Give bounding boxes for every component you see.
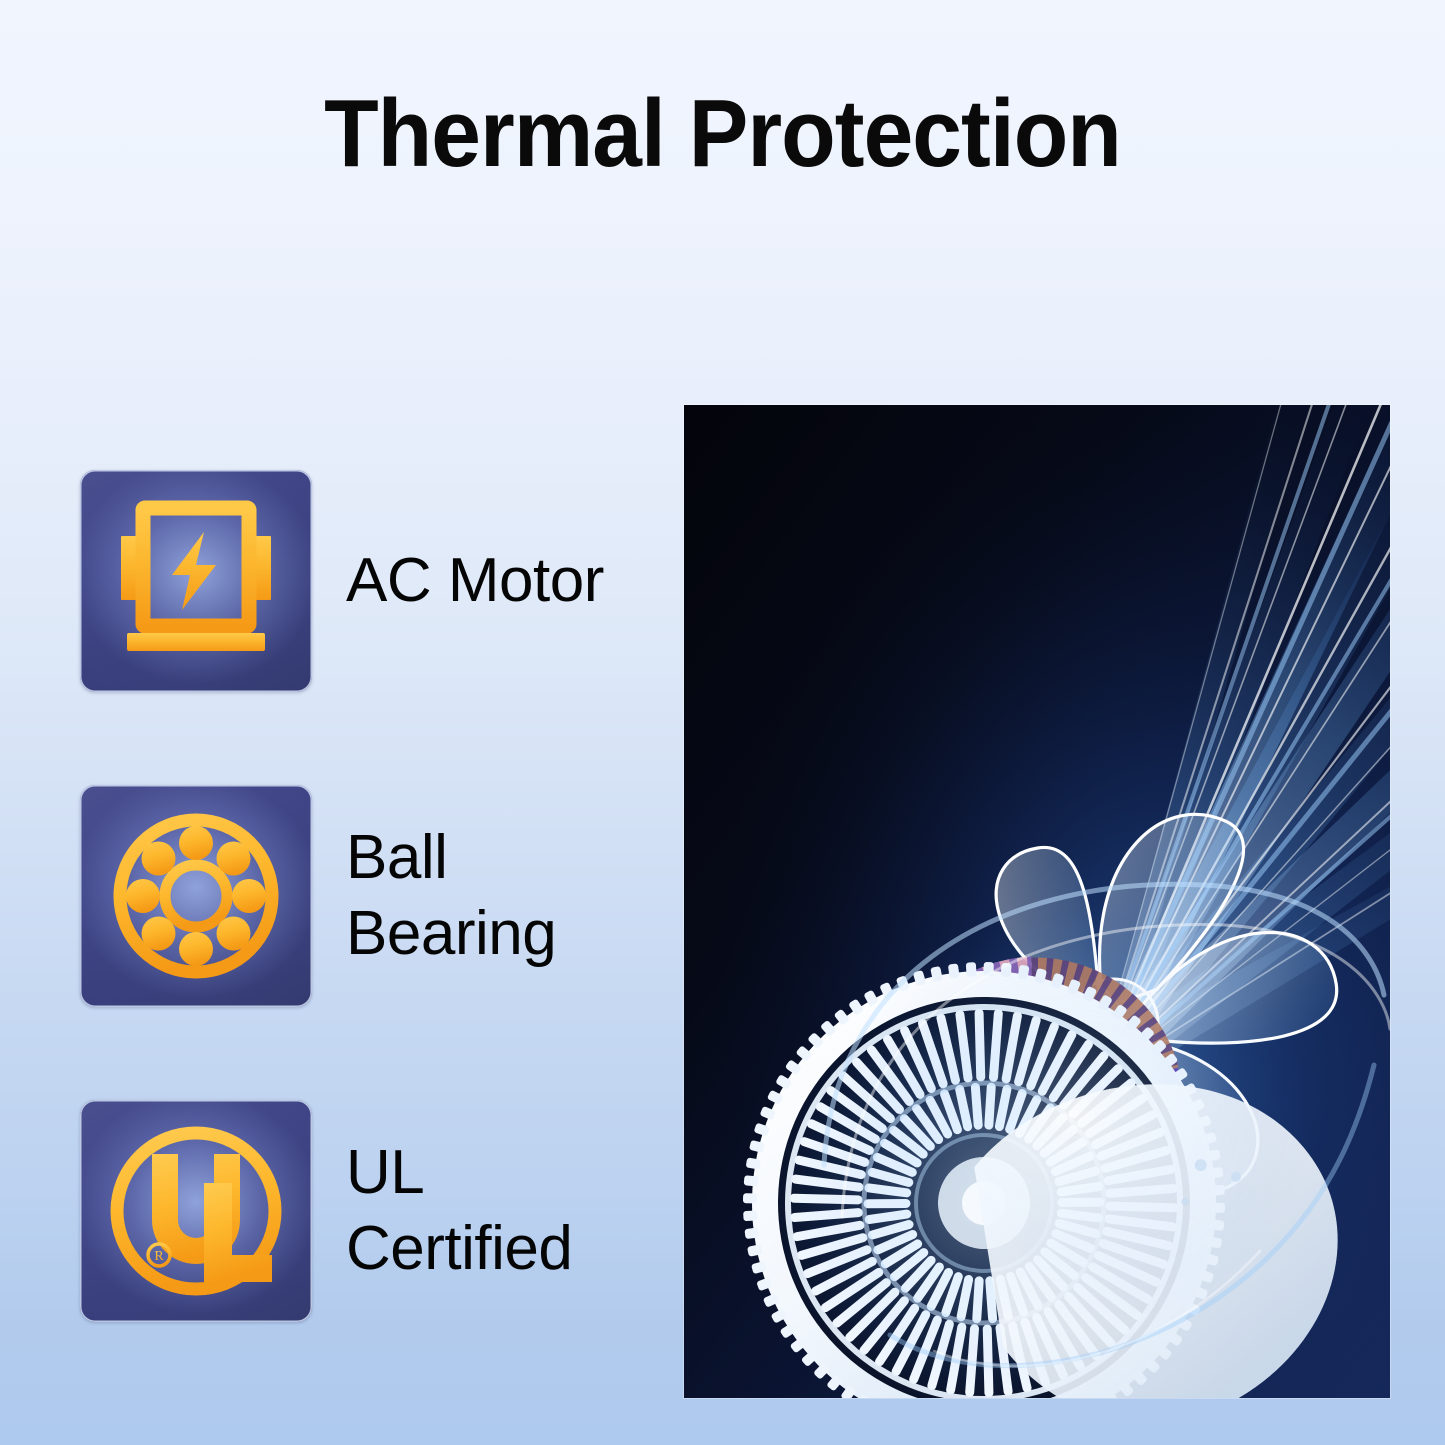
feature-list: AC Motor: [80, 470, 660, 1322]
feature-item-ac-motor: AC Motor: [80, 470, 660, 692]
ball-bearing-tile: [80, 785, 312, 1007]
fan-motor-airflow-photo: [684, 405, 1390, 1398]
feature-item-ul-certified: R UL Certified: [80, 1100, 660, 1322]
motor-glow: [836, 907, 1316, 1327]
feature-item-ball-bearing: Ball Bearing: [80, 785, 660, 1007]
feature-label-ul-certified: UL Certified: [346, 1135, 572, 1287]
feature-label-ball-bearing: Ball Bearing: [346, 820, 556, 972]
ul-certified-icon: R: [80, 1100, 312, 1322]
ac-motor-icon: [80, 470, 312, 692]
svg-text:R: R: [154, 1249, 164, 1264]
ul-certified-tile: R: [80, 1100, 312, 1322]
fan-motor-illustration: [684, 405, 1390, 1398]
thermal-protection-page: Thermal Protection: [0, 0, 1445, 1445]
ball-bearing-icon: [80, 785, 312, 1007]
feature-label-ac-motor: AC Motor: [346, 543, 604, 619]
ac-motor-tile: [80, 470, 312, 692]
page-title: Thermal Protection: [51, 82, 1395, 186]
